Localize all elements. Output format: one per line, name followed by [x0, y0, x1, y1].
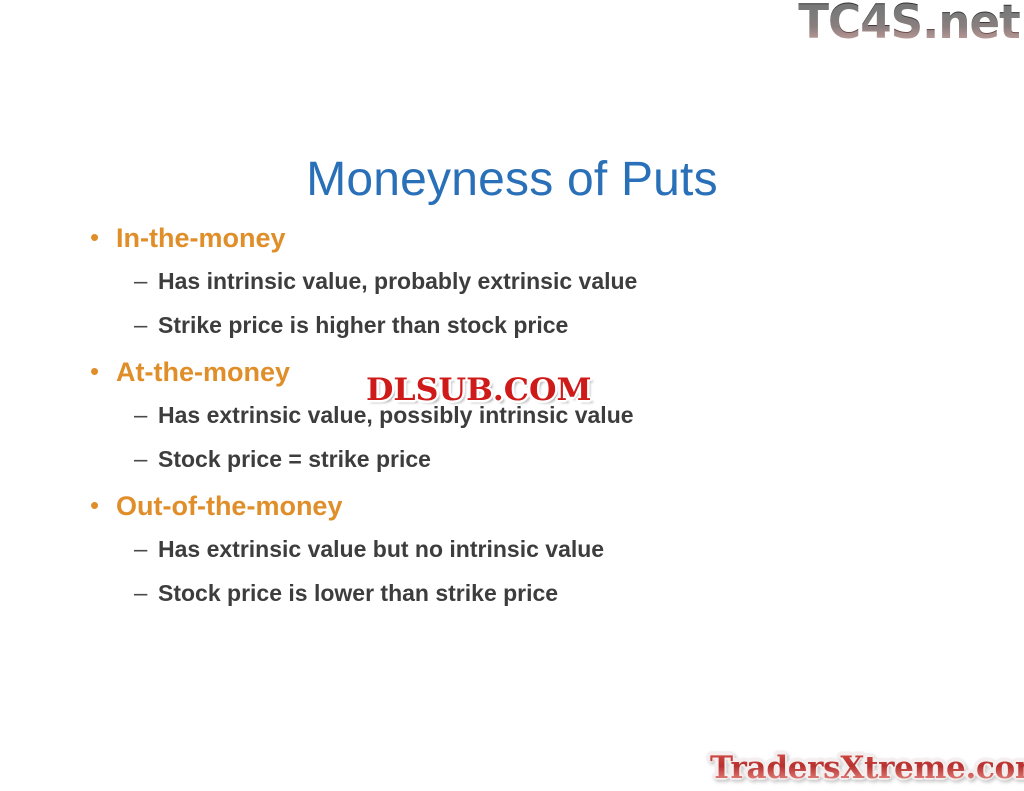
bullet-dot-icon: •	[86, 222, 116, 252]
bullet-dash-icon: –	[86, 444, 158, 475]
bullet-list: • In-the-money – Has intrinsic value, pr…	[86, 222, 946, 624]
bullet-dash-icon: –	[86, 400, 158, 431]
bullet-group: • In-the-money – Has intrinsic value, pr…	[86, 222, 946, 354]
bullet-level2: – Has extrinsic value but no intrinsic v…	[86, 534, 946, 578]
dlsub-watermark: DLSUB.COM	[366, 372, 592, 408]
bullet-level1: • Out-of-the-money	[86, 490, 946, 534]
bullet-dot-icon: •	[86, 490, 116, 520]
bullet-level1-label: Out-of-the-money	[116, 490, 342, 522]
bullet-dash-icon: –	[86, 266, 158, 297]
bullet-level2-label: Stock price = strike price	[158, 444, 431, 475]
page-title: Moneyness of Puts	[0, 154, 1024, 207]
bullet-level2: – Stock price is lower than strike price	[86, 578, 946, 622]
tradersxtreme-watermark: TradersXtreme.com	[710, 749, 1024, 787]
bullet-level2: – Has intrinsic value, probably extrinsi…	[86, 266, 946, 310]
bullet-level2-label: Strike price is higher than stock price	[158, 310, 568, 341]
bullet-level2-label: Has extrinsic value but no intrinsic val…	[158, 534, 604, 565]
presentation-slide: TC4S.net Moneyness of Puts • In-the-mone…	[0, 0, 1024, 791]
bullet-group: • Out-of-the-money – Has extrinsic value…	[86, 490, 946, 622]
bullet-level2-label: Stock price is lower than strike price	[158, 578, 558, 609]
bullet-dot-icon: •	[86, 356, 116, 386]
tc4s-site-logo: TC4S.net	[798, 0, 1020, 47]
bullet-dash-icon: –	[86, 578, 158, 609]
bullet-level1-label: In-the-money	[116, 222, 286, 254]
bullet-level2-label: Has intrinsic value, probably extrinsic …	[158, 266, 637, 297]
bullet-level2: – Strike price is higher than stock pric…	[86, 310, 946, 354]
bullet-dash-icon: –	[86, 534, 158, 565]
bullet-level1-label: At-the-money	[116, 356, 290, 388]
bullet-level2: – Stock price = strike price	[86, 444, 946, 488]
bullet-level1: • In-the-money	[86, 222, 946, 266]
bullet-dash-icon: –	[86, 310, 158, 341]
